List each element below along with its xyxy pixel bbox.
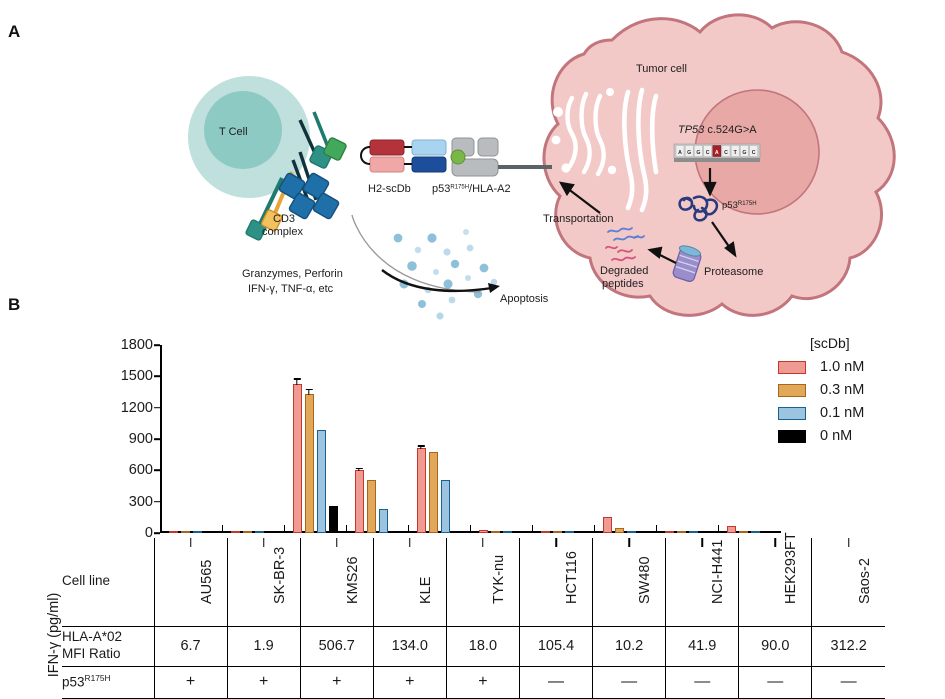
bar [701,531,710,533]
table-cell-mfi: 1.9 [227,626,300,666]
granzymes-label-1: Granzymes, Perforin [242,268,343,280]
table-cell-p53-status: + [227,666,300,698]
x-tick-mark [409,538,411,547]
table-cell-mfi: 506.7 [300,626,373,666]
table-cell-cell-line: TYK-nu [446,538,519,626]
x-tick-mark [190,538,192,547]
row-label-cell-line: Cell line [62,538,154,626]
bar [639,531,648,533]
bar [193,531,202,533]
table-cell-cell-line: HCT116 [519,538,592,626]
group-divider [532,525,533,533]
table-cell-p53-status: + [373,666,446,698]
proteasome-label: Proteasome [704,266,763,278]
bar [603,517,612,533]
bar [615,528,624,533]
bar-slot [391,345,400,533]
error-bar [358,468,359,472]
x-tick-mark [701,538,703,547]
pmhc-label: p53R175H/HLA-A2 [432,183,511,195]
bar-slot [627,345,636,533]
bar-slot [441,345,450,533]
error-bar-cap [355,468,362,469]
bar-slot [293,345,302,533]
bar-slot [541,345,550,533]
group-divider [346,525,347,533]
bar-slot [577,345,586,533]
bar-slot [727,345,736,533]
legend-items: 1.0 nM0.3 nM0.1 nM0 nM [778,359,938,444]
bar [627,531,636,533]
x-tick-mark [263,538,265,547]
bar [763,531,772,533]
table-cell-cell-line: SK-BR-3 [227,538,300,626]
bar-group [532,345,594,533]
h2-scdb-label: H2-scDb [368,183,411,195]
error-bar [296,378,297,384]
error-bar-cap [305,389,312,390]
bar-group [594,345,656,533]
table-cell-cell-line: HEK293FT [739,538,812,626]
cell-line-name: KMS26 [345,556,361,604]
bar [367,480,376,533]
legend-swatch [778,407,806,420]
bar-group [718,345,780,533]
cytokine-dots [394,229,498,320]
cell-line-name: AU565 [199,559,215,603]
legend-item[interactable]: 0.3 nM [778,382,938,398]
bar [727,526,736,533]
dna-base-letter: A [678,150,682,156]
row-label-p53: p53R175H [62,666,154,698]
bar-slot [677,345,686,533]
bar [515,531,524,533]
bar [665,531,674,533]
bar [231,531,240,533]
bar-slot [417,345,426,533]
table-cell-mfi: 18.0 [446,626,519,666]
bar-slot [305,345,314,533]
bar-slot [689,345,698,533]
legend-label: 0.1 nM [820,405,864,421]
bar [417,448,426,533]
dna-sequence-strip: AGGCACTGC [674,144,760,162]
error-bar [420,445,421,449]
bar [565,531,574,533]
cell-line-name: Saos-2 [857,558,873,604]
bar [391,531,400,533]
table-cell-cell-line: AU565 [154,538,227,626]
y-tick-label: 900 [129,431,153,447]
x-tick-mark [775,538,777,547]
bar [243,531,252,533]
tumor-cell-label: Tumor cell [636,63,687,75]
bar-slot [503,345,512,533]
bar-slot [429,345,438,533]
bar-slot [479,345,488,533]
y-tick-label: 1500 [121,368,153,384]
y-tick-label: 1200 [121,400,153,416]
table-cell-p53-status: + [300,666,373,698]
bar [677,531,686,533]
table-cell-cell-line: NCI-H441 [666,538,739,626]
bar-slot [169,345,178,533]
table-cell-p53-status: — [739,666,812,698]
bar [317,430,326,533]
table-cell-mfi: 134.0 [373,626,446,666]
dna-base-letter: G [696,150,700,156]
legend-item[interactable]: 1.0 nM [778,359,938,375]
bar-slot [665,345,674,533]
transportation-label: Transportation [543,213,614,225]
bar-slot [639,345,648,533]
table-row-p53: p53R175H +++++————— [62,666,885,698]
bar [305,394,314,533]
bar-slot [181,345,190,533]
bar-slot [603,345,612,533]
table-cell-mfi: 6.7 [154,626,227,666]
bar-slot [367,345,376,533]
plot-area: 0300600900120015001800 [160,345,780,533]
bar-group [160,345,222,533]
bar-slot [565,345,574,533]
bar-group [656,345,718,533]
x-tick-mark [482,538,484,547]
bar [429,452,438,533]
table-cell-p53-status: + [446,666,519,698]
row-label-mfi-line2: MFI Ratio [62,646,154,663]
bar-group [284,345,346,533]
table-cell-p53-status: — [812,666,885,698]
cell-line-name: SW480 [637,556,653,604]
cell-line-name: KLE [418,576,434,603]
degraded-peptides-label-1: Degraded [600,265,648,277]
panel-a-schematic: A TP53 c.524G>A AGGCACT [0,0,945,325]
group-divider [594,525,595,533]
bar-slot [763,345,772,533]
legend-item[interactable]: 0 nM [778,428,938,444]
bar-slot [379,345,388,533]
table-row-cell-line: Cell line AU565SK-BR-3KMS26KLETYK-nuHCT1… [62,538,885,626]
x-tick-mark [336,538,338,547]
bar-slot [255,345,264,533]
bar [205,531,214,533]
table-cell-p53-status: — [519,666,592,698]
bar [479,530,488,533]
table-cell-mfi: 41.9 [666,626,739,666]
row-label-mfi-line1: HLA-A*02 [62,629,154,646]
bar [267,531,276,533]
bar-slot [205,345,214,533]
bar [491,531,500,533]
table-cell-p53-status: + [154,666,227,698]
cell-line-name: NCI-H441 [710,539,726,603]
bar [751,531,760,533]
table-cell-mfi: 10.2 [593,626,666,666]
y-tick-label: 600 [129,462,153,478]
table-cell-p53-status: — [666,666,739,698]
bar-slot [739,345,748,533]
panel-b-label: B [8,295,20,315]
annotation-table: Cell line AU565SK-BR-3KMS26KLETYK-nuHCT1… [62,538,885,699]
legend-label: 0 nM [820,428,852,444]
legend-swatch [778,361,806,374]
error-bar-cap [293,378,300,379]
bar [689,531,698,533]
group-divider [222,525,223,533]
granzymes-label-2: IFN-γ, TNF-α, etc [248,283,334,295]
bar [329,506,338,533]
bar-slot [453,345,462,533]
y-tick-label: 1800 [121,337,153,353]
dna-base-letter: G [742,150,746,156]
x-tick-mark [555,538,557,547]
bar-slot [243,345,252,533]
legend: [scDb] 1.0 nM0.3 nM0.1 nM0 nM [778,335,938,451]
dna-base-letter: C [706,150,710,156]
y-axis-label: IFN-γ (pg/ml) [46,575,62,695]
t-cell-label: T Cell [219,126,248,138]
bar-slot [267,345,276,533]
table-cell-cell-line: SW480 [593,538,666,626]
bar-slot [231,345,240,533]
bar-slot [355,345,364,533]
bar-slot [491,345,500,533]
bar-group [408,345,470,533]
table-cell-mfi: 90.0 [739,626,812,666]
bar [255,531,264,533]
dna-base-letter: G [687,150,691,156]
row-label-mfi: HLA-A*02 MFI Ratio [62,626,154,666]
h2-scdb-icon [361,140,446,172]
legend-item[interactable]: 0.1 nM [778,405,938,421]
dna-base-letter: C [752,150,756,156]
bar-group [222,345,284,533]
legend-label: 1.0 nM [820,359,864,375]
cd3-label-1: CD3 [273,213,295,225]
bar-slot [193,345,202,533]
bar [453,531,462,533]
bar-slot [701,345,710,533]
table-cell-cell-line: KMS26 [300,538,373,626]
cell-line-name: HEK293FT [783,532,799,604]
bar-group [346,345,408,533]
error-bar-cap [417,445,424,446]
legend-swatch [778,430,806,443]
legend-swatch [778,384,806,397]
legend-label: 0.3 nM [820,382,864,398]
bar-slot [329,345,338,533]
table-row-mfi: HLA-A*02 MFI Ratio 6.71.9506.7134.018.01… [62,626,885,666]
bar-slot [615,345,624,533]
table-cell-mfi: 105.4 [519,626,592,666]
legend-title: [scDb] [778,335,938,351]
table-cell-cell-line: KLE [373,538,446,626]
pmhc-icon [451,138,552,176]
cd3-label-2: complex [262,226,303,238]
bar [355,470,364,533]
bar-group [470,345,532,533]
bar [293,384,302,533]
y-tick-label: 300 [129,494,153,510]
error-bar [308,389,309,395]
group-divider [284,525,285,533]
arrow-apoptosis [352,215,500,293]
x-tick-mark [848,538,850,547]
bar [541,531,550,533]
table-cell-mfi: 312.2 [812,626,885,666]
bar-slot [751,345,760,533]
bar-slot [553,345,562,533]
dna-base-letter: A [715,150,719,156]
group-divider [408,525,409,533]
dna-base-letter: C [724,150,728,156]
group-divider [656,525,657,533]
bar [169,531,178,533]
tp53-gene-label: TP53 c.524G>A [678,124,757,136]
bar [441,480,450,533]
bar [553,531,562,533]
cell-line-name: HCT116 [564,551,580,604]
cell-line-name: SK-BR-3 [272,546,288,603]
table-cell-p53-status: — [593,666,666,698]
x-tick-mark [628,538,630,547]
bar [577,531,586,533]
bar [379,509,388,533]
bar [739,531,748,533]
panel-b-chart: B IFN-γ (pg/ml) 0300600900120015001800 [… [0,325,945,689]
table-cell-cell-line: Saos-2 [812,538,885,626]
group-divider [470,525,471,533]
bar [181,531,190,533]
apoptosis-label: Apoptosis [500,293,549,305]
degraded-peptides-label-2: peptides [602,278,644,290]
group-divider [718,525,719,533]
cell-line-name: TYK-nu [491,554,507,603]
mechanism-diagram: TP53 c.524G>A AGGCACTGC p53R175H [0,0,945,325]
bar-slot [515,345,524,533]
bar-slot [317,345,326,533]
bar [503,531,512,533]
